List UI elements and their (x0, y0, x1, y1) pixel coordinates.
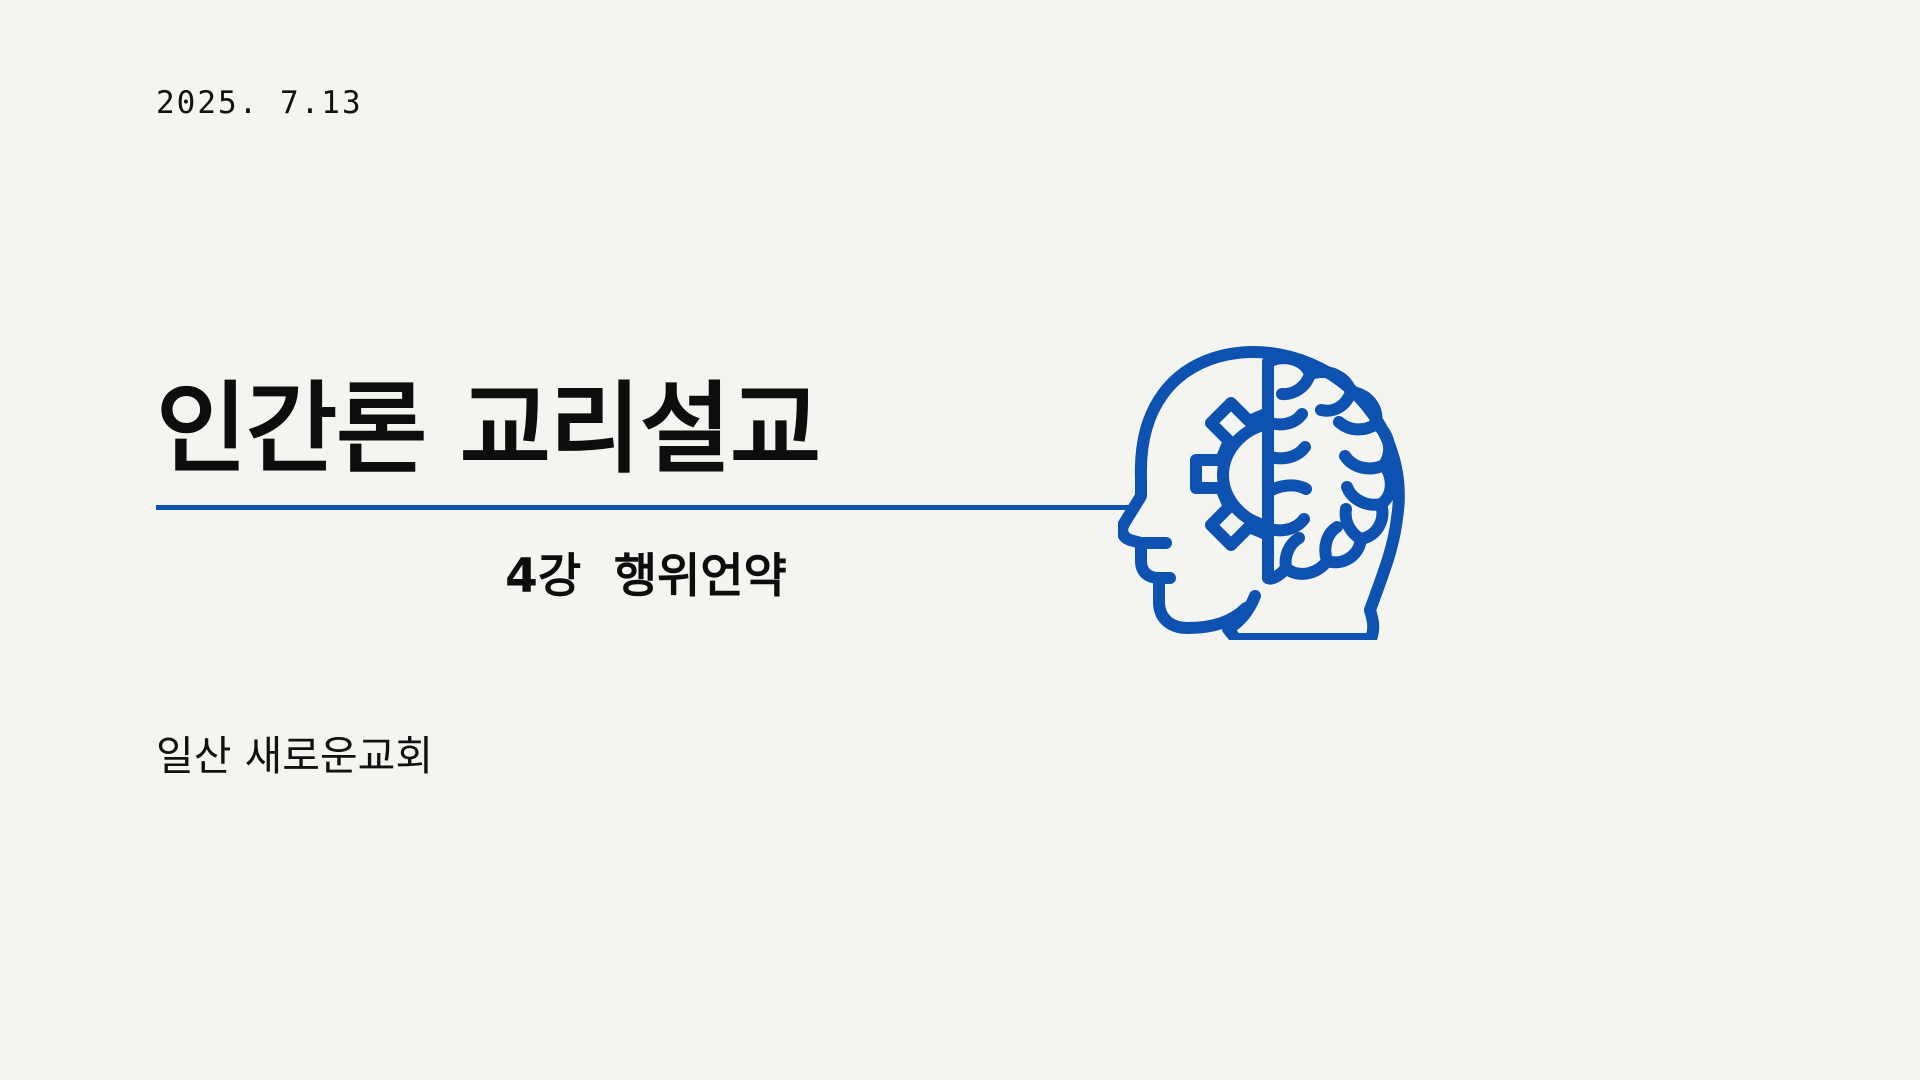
date-label: 2025. 7.13 (156, 85, 363, 121)
title-block: 인간론 교리설교 4강 행위언약 (156, 380, 1136, 606)
presentation-title-slide: 2025. 7.13 인간론 교리설교 4강 행위언약 일산 새로운교회 (0, 0, 1920, 1080)
page-subtitle: 4강 행위언약 (156, 537, 1136, 606)
church-name-label: 일산 새로운교회 (156, 722, 433, 782)
head-brain-gear-icon (1118, 310, 1428, 640)
title-divider (156, 505, 1136, 510)
page-title: 인간론 교리설교 (156, 380, 1136, 479)
